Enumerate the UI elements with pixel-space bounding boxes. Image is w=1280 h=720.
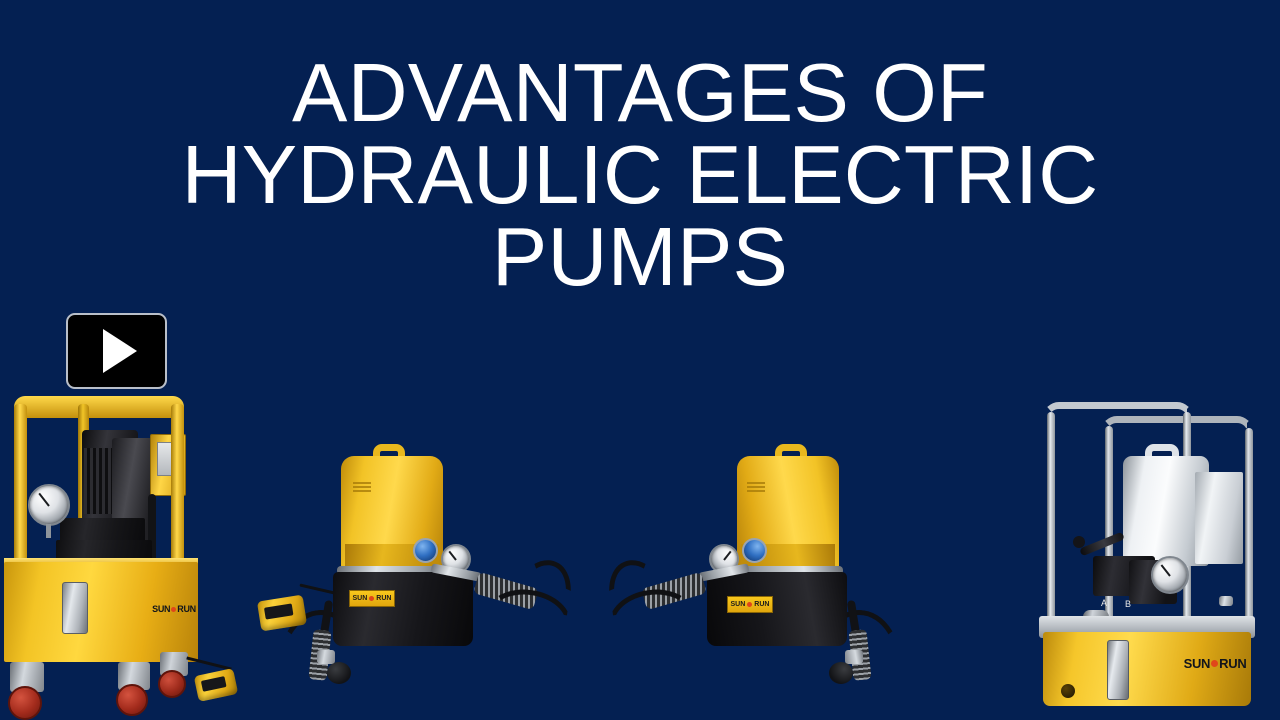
play-triangle-icon: [103, 329, 137, 373]
page-title: ADVANTAGES OF HYDRAULIC ELECTRIC PUMPS: [0, 52, 1280, 299]
pendant-button-face: [264, 603, 293, 620]
chrome-cage-top-rear: [1101, 416, 1253, 436]
tank-name-plate: [1107, 640, 1129, 700]
relief-valve-knob: [413, 538, 438, 563]
caster-wheel-1: [8, 686, 42, 720]
sticker-text-right: RUN: [376, 595, 391, 602]
brand-sticker-sunrun: SUN RUN: [727, 596, 773, 613]
product-image-caged-wheeled-pump: SUN RUN: [0, 390, 232, 720]
pressure-gauge: [1151, 556, 1189, 594]
motor-side-panel: [1195, 472, 1243, 564]
product-image-portable-pump-right: SUN RUN: [625, 440, 925, 690]
title-line-2: HYDRAULIC ELECTRIC: [0, 134, 1280, 216]
brand-text-left: SUN: [152, 604, 170, 614]
pendant-cord: [186, 656, 231, 670]
chrome-cage-post-4: [1245, 428, 1253, 624]
sticker-text-right: RUN: [754, 601, 769, 608]
hose-end-cap: [829, 662, 853, 684]
pressure-gauge: [28, 484, 70, 526]
caster-wheel-3: [158, 670, 186, 698]
brand-dot-icon: [747, 602, 752, 607]
brand-text-right: RUN: [1219, 656, 1246, 671]
valve-lever-knob: [1073, 536, 1085, 548]
gauge-stem: [46, 524, 51, 538]
brand-text-right: RUN: [177, 604, 196, 614]
shroud-label: [747, 482, 765, 492]
hose-coupler-nut: [845, 650, 863, 664]
sticker-text-left: SUN: [353, 595, 368, 602]
hose-coupler-nut: [317, 650, 335, 664]
wing-nut: [1219, 596, 1233, 606]
remote-pendant: [194, 668, 239, 702]
play-button[interactable]: [66, 313, 167, 389]
brand-dot-icon: [171, 607, 176, 612]
cage-top-bar: [14, 396, 184, 418]
valve-port-label-a: A: [1101, 598, 1107, 608]
relief-valve-knob: [742, 538, 767, 563]
cage-post-right: [171, 404, 184, 564]
slide-canvas: ADVANTAGES OF HYDRAULIC ELECTRIC PUMPS S…: [0, 0, 1280, 720]
cage-post-left: [14, 404, 27, 564]
brand-logo-sunrun: SUN RUN: [1183, 654, 1247, 672]
brand-text-left: SUN: [1184, 656, 1211, 671]
brand-dot-icon: [369, 596, 374, 601]
shroud-label: [353, 482, 371, 492]
caster-wheel-2: [116, 684, 148, 716]
oil-tank: [333, 572, 473, 646]
product-image-portable-pump-left: SUN RUN: [255, 440, 555, 690]
brand-dot-icon: [1211, 660, 1218, 667]
valve-lever: [1079, 532, 1125, 557]
brand-logo-sunrun: SUN RUN: [150, 602, 198, 616]
title-line-3: PUMPS: [0, 216, 1280, 298]
chrome-cage-post-1: [1047, 412, 1055, 642]
product-image-chrome-cage-pump: A B SUN RUN: [1023, 388, 1280, 720]
sticker-text-left: SUN: [731, 601, 746, 608]
brand-sticker-sunrun: SUN RUN: [349, 590, 395, 607]
pendant-button-face: [200, 676, 226, 692]
title-line-1: ADVANTAGES OF: [0, 52, 1280, 134]
hose-end-cap: [327, 662, 351, 684]
valve-port-label-b: B: [1125, 599, 1131, 609]
tank-name-plate: [62, 582, 88, 634]
drain-plug: [1061, 684, 1075, 698]
